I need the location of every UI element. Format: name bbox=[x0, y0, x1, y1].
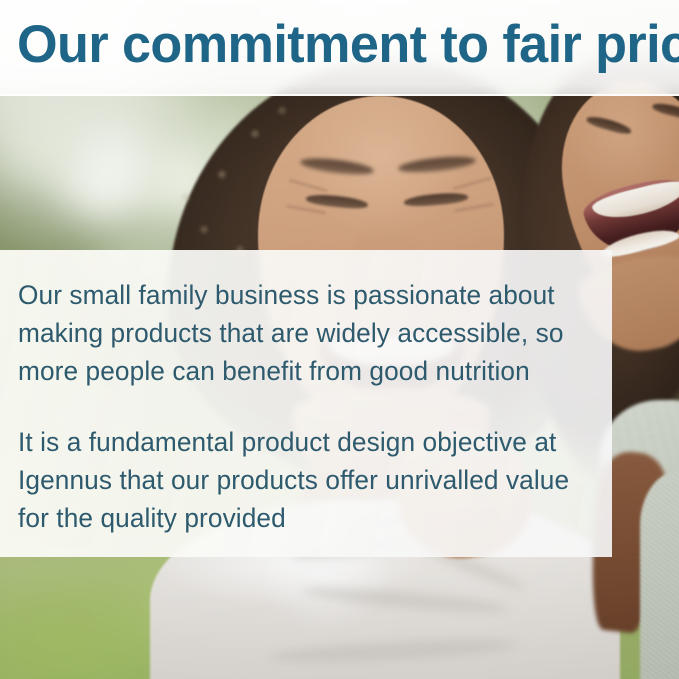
page-title: Our commitment to fair pricing bbox=[17, 10, 662, 80]
body-paragraph-2: It is a fundamental product design objec… bbox=[18, 423, 586, 537]
body-paragraph-1: Our small family business is passionate … bbox=[18, 276, 586, 390]
header-band: Our commitment to fair pricing bbox=[0, 0, 679, 96]
text-overlay-panel: Our small family business is passionate … bbox=[0, 250, 612, 557]
child-knit-sweater bbox=[640, 470, 679, 679]
marketing-banner: Our commitment to fair pricing Our small… bbox=[0, 0, 679, 679]
